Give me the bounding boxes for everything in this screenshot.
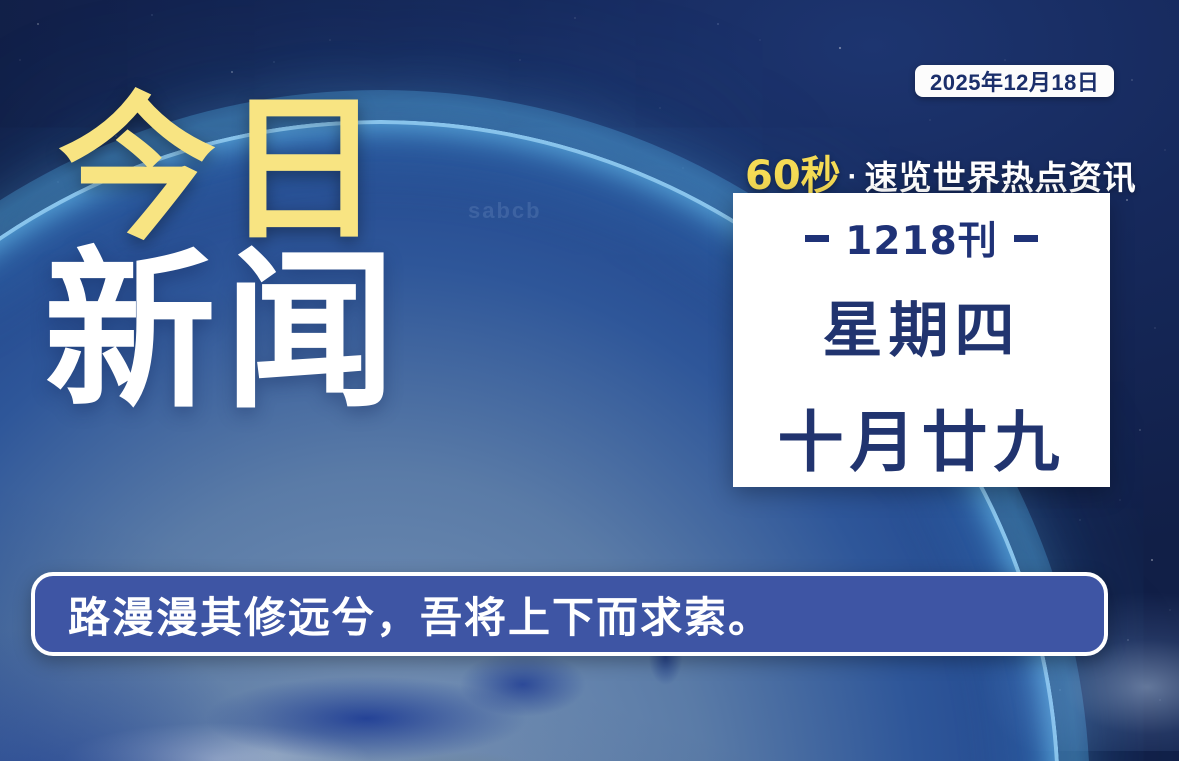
weekday-label: 星期四 <box>823 282 1021 369</box>
date-badge: 2025年12月18日 <box>915 65 1114 97</box>
lunar-date-label: 十月廿九 <box>778 389 1066 485</box>
page-title: 今日 新闻 <box>58 96 404 412</box>
headline-line-2: 新闻 <box>44 251 404 413</box>
dash-left-icon <box>805 235 829 242</box>
issue-row: 1218刊 <box>805 210 1038 266</box>
headline-line-1: 今日 <box>58 96 404 245</box>
issue-info-card: 1218刊 星期四 十月廿九 <box>733 193 1110 487</box>
tagline-subtitle: 速览世界热点资讯 <box>865 151 1137 199</box>
issue-number: 1218刊 <box>845 210 998 266</box>
dash-right-icon <box>1014 235 1038 242</box>
quote-banner: 路漫漫其修远兮，吾将上下而求索。 <box>31 572 1108 656</box>
tagline-separator-dot: · <box>848 160 858 194</box>
news-poster: sabcb 今日 新闻 2025年12月18日 60秒 · 速览世界热点资讯 1… <box>0 0 1179 761</box>
quote-text: 路漫漫其修远兮，吾将上下而求索。 <box>68 584 772 645</box>
